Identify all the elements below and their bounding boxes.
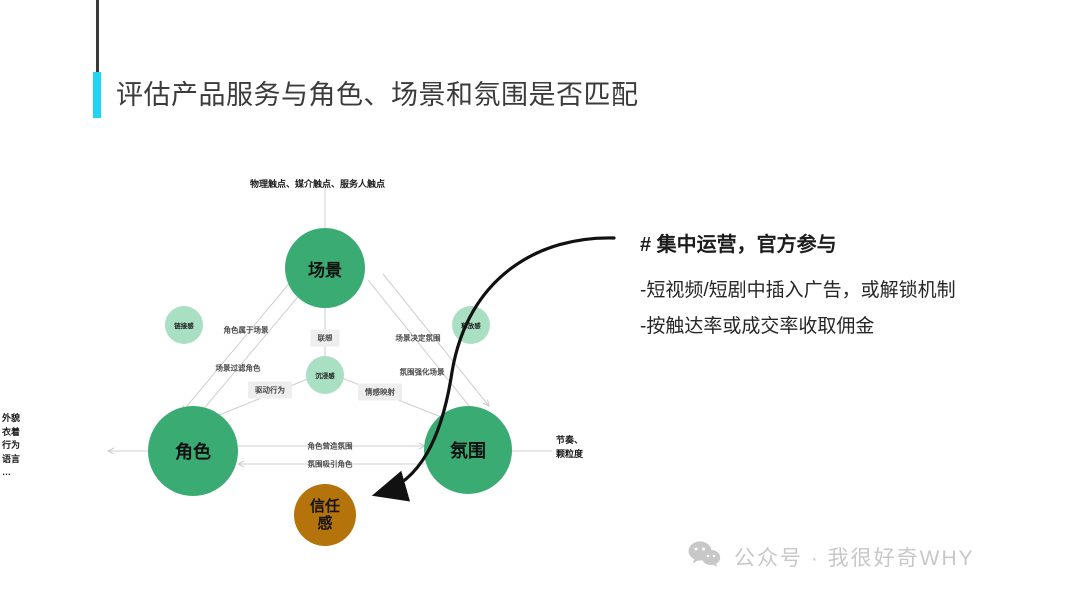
relationship-diagram: 场景 角色 氛围 链接感 沉浸感 释放感 信任 感 角色属于场景 场景过滤角色 … [0,150,620,580]
edge-label-atmosphere-attracts-role: 氛围吸引角色 [308,459,353,470]
page-title: 评估产品服务与角色、场景和氛围是否匹配 [116,72,639,118]
note-role-line-1: 外貌 [2,412,20,426]
watermark: 公众号 · 我很好奇WHY [688,540,975,573]
node-release-label: 释放感 [461,320,481,330]
annotation-heading: # 集中运营，官方参与 [640,228,1060,257]
edge-label-scene-decides-atmosphere: 场景决定氛围 [396,333,441,344]
watermark-text: 公众号 · 我很好奇WHY [734,542,975,572]
note-role-line-5: … [2,466,20,480]
note-role-attributes: 外貌 衣着 行为 语言 … [2,412,20,480]
node-atmosphere-label: 氛围 [450,437,486,463]
note-atmosphere-line-1: 节奏、 [556,434,583,448]
edge-label-role-creates-atmosphere: 角色营造氛围 [308,441,353,452]
note-scene-touchpoints: 物理触点、媒介触点、服务人触点 [250,178,385,191]
note-role-line-2: 衣着 [2,426,20,440]
node-release[interactable]: 释放感 [452,306,490,344]
edge-label-scene-filters-role: 场景过滤角色 [216,363,261,374]
annotation-block: # 集中运营，官方参与 -短视频/短剧中插入广告，或解锁机制 -按触达率或成交率… [640,228,1060,345]
annotation-line-2: -按触达率或成交率收取佣金 [640,309,1060,345]
node-trust-label-line2: 感 [317,515,332,532]
edge-label-association: 联想 [311,330,340,347]
note-atmosphere-line-2: 颗粒度 [556,448,583,462]
node-immersion-label: 沉浸感 [315,370,335,380]
edge-label-drive-behavior: 驱动行为 [248,382,292,399]
node-trust-label-line1: 信任 [310,498,340,515]
node-scene-label: 场景 [308,256,342,281]
node-connection[interactable]: 链接感 [165,306,203,344]
note-atmosphere-attributes: 节奏、 颗粒度 [556,434,583,461]
title-accent-bar [93,72,101,118]
edge-label-emotion-mapping: 情感映射 [358,384,402,401]
note-role-line-4: 语言 [2,453,20,467]
node-immersion[interactable]: 沉浸感 [306,356,344,394]
node-role-label: 角色 [175,438,211,464]
annotation-line-1: -短视频/短剧中插入广告，或解锁机制 [640,273,1060,309]
note-role-line-3: 行为 [2,439,20,453]
node-role[interactable]: 角色 [148,406,238,496]
edge-label-atmosphere-strengthens-scene: 氛围强化场景 [400,367,445,378]
node-atmosphere[interactable]: 氛围 [424,406,512,494]
title-rule-dark [96,0,99,72]
wechat-icon [688,540,722,573]
node-scene[interactable]: 场景 [285,228,365,308]
edge-label-role-belongs-to-scene: 角色属于场景 [224,325,269,336]
node-connection-label: 链接感 [174,320,194,330]
node-trust[interactable]: 信任 感 [294,484,356,546]
